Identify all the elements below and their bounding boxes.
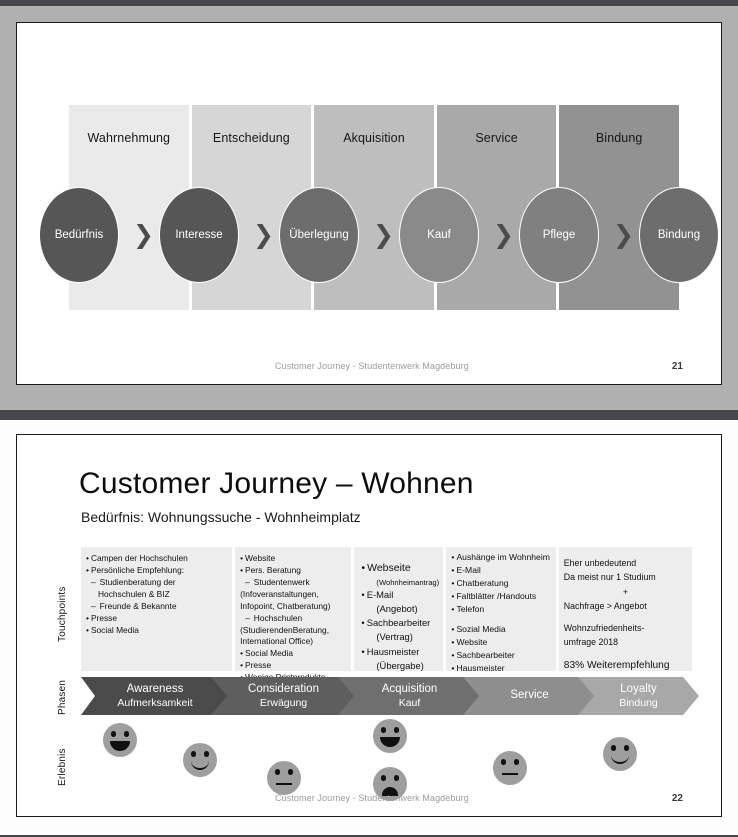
stage-bubble-ueberlegung[interactable]: Überlegung	[279, 187, 359, 283]
flat-face-icon	[493, 751, 527, 785]
touchpoint-list: Eher unbedeutendDa meist nur 1 Studium+N…	[564, 556, 687, 674]
touchpoint-item: Telefon	[451, 603, 550, 616]
touchpoint-item: Sachbearbeiter	[451, 649, 550, 662]
flat-face-icon	[267, 761, 301, 795]
touchpoint-item: Hochschulen	[240, 613, 346, 625]
touchpoint-item: Webseite	[359, 561, 438, 577]
touchpoint-item: Studentenwerk	[240, 577, 346, 589]
touchpoint-item: Sozial Media	[451, 623, 550, 636]
touchpoint-item: Website	[451, 636, 550, 649]
presentation-viewer: Wahrnehmung Entscheidung Akquisition Ser…	[0, 0, 738, 837]
eye-left	[191, 751, 196, 757]
phase-line-1: Acquisition	[382, 683, 438, 697]
mouth	[380, 737, 400, 747]
phase-chevron-loyalty[interactable]: Loyalty Bindung	[578, 677, 699, 715]
phase-chevron-consideration[interactable]: Consideration Erwägung	[211, 677, 356, 715]
phase-line-2: Erwägung	[260, 697, 307, 709]
touchpoints-cell-awareness[interactable]: Campen der HochschulenPersönliche Empfeh…	[81, 547, 232, 671]
stage-bubble-beduerfnis[interactable]: Bedürfnis	[39, 187, 119, 283]
touchpoint-item: (Vertrag)	[359, 630, 438, 644]
touchpoint-item: Presse	[86, 613, 227, 625]
touchpoint-item: Pers. Beratung	[240, 565, 346, 577]
phase-line-2: Kauf	[399, 697, 421, 709]
touchpoint-item: +	[564, 585, 687, 599]
eye-left	[501, 759, 506, 765]
touchpoints-cell-acquisition[interactable]: Webseite(Wohnheimantrag)E-Mail(Angebot)S…	[354, 547, 443, 671]
eye-left	[611, 745, 616, 751]
touchpoint-item	[451, 615, 550, 623]
touchpoint-item: Aushänge im Wohnheim	[451, 551, 550, 564]
smile-face-icon	[183, 743, 217, 777]
eye-left	[381, 727, 386, 733]
touchpoint-item: Sachbearbeiter	[359, 616, 438, 630]
journey-stage-row: Bedürfnis ❯ Interesse ❯ Überlegung ❯ Kau…	[29, 187, 722, 287]
touchpoints-cell-consideration[interactable]: WebsitePers. BeratungStudentenwerk(Infov…	[235, 547, 351, 671]
page-number: 22	[672, 793, 683, 804]
phase-line-1: Awareness	[127, 683, 184, 697]
touchpoint-item: (Wohnheimantrag)	[359, 577, 438, 588]
stage-bubble-kauf[interactable]: Kauf	[399, 187, 479, 283]
eye-right	[288, 769, 293, 775]
phases-chevron-band: Awareness Aufmerksamkeit Consideration E…	[81, 677, 699, 715]
eye-right	[514, 759, 519, 765]
phase-line-1: Consideration	[248, 683, 319, 697]
eye-right	[394, 727, 399, 733]
phase-label: Akquisition	[314, 131, 434, 145]
row-label-phasen: Phasen	[57, 676, 68, 718]
touchpoint-list: Aushänge im WohnheimE-MailChatberatungFa…	[451, 551, 550, 675]
touchpoints-cell-loyalty[interactable]: Eher unbedeutendDa meist nur 1 Studium+N…	[559, 547, 692, 671]
touchpoint-item: umfrage 2018	[564, 635, 687, 649]
phase-chevron-service[interactable]: Service	[463, 677, 596, 715]
touchpoint-item: Persönliche Empfehlung:	[86, 565, 227, 577]
phase-label: Wahrnehmung	[69, 131, 189, 145]
touchpoint-list: Campen der HochschulenPersönliche Empfeh…	[86, 553, 227, 636]
grin-face-icon	[103, 723, 137, 757]
touchpoint-list: Webseite(Wohnheimantrag)E-Mail(Angebot)S…	[359, 561, 438, 673]
touchpoint-item: E-Mail	[451, 564, 550, 577]
touchpoint-item: Da meist nur 1 Studium	[564, 570, 687, 584]
touchpoint-item: Infopoint, Chatberatung)	[240, 601, 346, 613]
touchpoint-item: (Infoveranstaltungen,	[240, 589, 346, 601]
touchpoint-item: Studienberatung der	[86, 577, 227, 589]
row-label-touchpoints: Touchpoints	[57, 558, 68, 670]
phase-label: Entscheidung	[192, 131, 312, 145]
grin-face-icon	[373, 719, 407, 753]
smile-face-icon	[603, 737, 637, 771]
slide-1[interactable]: Wahrnehmung Entscheidung Akquisition Ser…	[16, 22, 722, 385]
chevron-right-icon: ❯	[133, 221, 151, 249]
touchpoints-table: Campen der HochschulenPersönliche Empfeh…	[81, 547, 692, 671]
touchpoint-item: Hochschulen & BIZ	[86, 589, 227, 601]
touchpoint-item: Social Media	[86, 625, 227, 637]
phase-line-1: Loyalty	[620, 683, 656, 697]
chevron-right-icon: ❯	[493, 221, 511, 249]
stage-bubble-interesse[interactable]: Interesse	[159, 187, 239, 283]
mouth	[191, 759, 209, 770]
page-title: Customer Journey – Wohnen	[79, 467, 474, 501]
page-number: 21	[672, 361, 683, 372]
touchpoint-item: E-Mail	[359, 588, 438, 602]
touchpoint-item: Social Media	[240, 648, 346, 660]
slide-2[interactable]: Customer Journey – Wohnen Bedürfnis: Woh…	[16, 434, 722, 817]
stage-bubble-bindung[interactable]: Bindung	[639, 187, 719, 283]
eye-left	[381, 775, 386, 781]
touchpoint-item: Chatberatung	[451, 577, 550, 590]
touchpoint-item: Website	[240, 553, 346, 565]
touchpoint-item: (Übergabe)	[359, 659, 438, 673]
experience-face-row	[81, 719, 699, 799]
slide-1-footer: Customer Journey - Studentenwerk Magdebu…	[17, 361, 721, 375]
touchpoint-item: Freunde & Bekannte	[86, 601, 227, 613]
touchpoint-item: Hausmeister	[359, 645, 438, 659]
phase-label: Service	[437, 131, 557, 145]
touchpoint-item: (Angebot)	[359, 602, 438, 616]
row-label-erlebnis: Erlebnis	[57, 735, 68, 799]
touchpoint-item	[564, 613, 687, 621]
touchpoint-item: (StudierendenBeratung,	[240, 625, 346, 637]
touchpoint-item: 83% Weiterempfehlung	[564, 658, 687, 675]
touchpoint-item: International Office)	[240, 636, 346, 648]
stage-bubble-pflege[interactable]: Pflege	[519, 187, 599, 283]
touchpoint-item: Wohnzufriedenheits-	[564, 621, 687, 635]
footer-text: Customer Journey - Studentenwerk Magdebu…	[275, 793, 469, 803]
chevron-right-icon: ❯	[613, 221, 631, 249]
page-subtitle: Bedürfnis: Wohnungssuche - Wohnheimplatz	[81, 509, 361, 525]
eye-right	[204, 751, 209, 757]
touchpoint-item: Hausmeister	[451, 662, 550, 675]
eye-right	[124, 731, 129, 737]
touchpoints-cell-service[interactable]: Aushänge im WohnheimE-MailChatberatungFa…	[446, 547, 555, 671]
chevron-right-icon: ❯	[253, 221, 271, 249]
phase-chevron-awareness[interactable]: Awareness Aufmerksamkeit	[81, 677, 229, 715]
touchpoint-item: Eher unbedeutend	[564, 556, 687, 570]
phase-line-2: Bindung	[619, 697, 658, 709]
eye-left	[275, 769, 280, 775]
phase-label: Bindung	[559, 131, 679, 145]
touchpoint-item: Nachfrage > Angebot	[564, 599, 687, 613]
touchpoint-item: Faltblätter /Handouts	[451, 590, 550, 603]
eye-right	[624, 745, 629, 751]
eye-left	[111, 731, 116, 737]
mouth	[110, 741, 130, 751]
mouth	[502, 773, 518, 775]
mouth	[276, 783, 292, 785]
slide-2-footer: Customer Journey - Studentenwerk Magdebu…	[17, 793, 721, 807]
touchpoint-item: Presse	[240, 660, 346, 672]
phase-chevron-acquisition[interactable]: Acquisition Kauf	[338, 677, 481, 715]
touchpoint-item	[564, 650, 687, 658]
phase-line-1: Service	[510, 689, 548, 703]
chevron-right-icon: ❯	[373, 221, 391, 249]
phase-line-2: Aufmerksamkeit	[117, 697, 192, 709]
touchpoint-item: Campen der Hochschulen	[86, 553, 227, 565]
mouth	[611, 753, 629, 764]
eye-right	[394, 775, 399, 781]
footer-text: Customer Journey - Studentenwerk Magdebu…	[275, 361, 469, 371]
touchpoint-list: WebsitePers. BeratungStudentenwerk(Infov…	[240, 553, 346, 684]
